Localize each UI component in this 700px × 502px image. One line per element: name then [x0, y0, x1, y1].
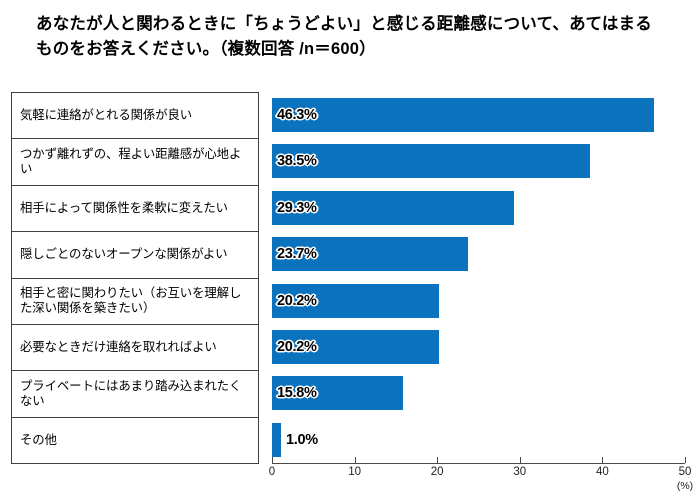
bar-value-label: 23.7% — [272, 237, 317, 271]
x-axis-tick — [685, 457, 686, 463]
x-axis-line — [272, 463, 685, 464]
bar-value-label: 38.5% — [272, 144, 317, 178]
category-cell: 隠しごとのないオープンな関係がよい — [12, 232, 258, 278]
x-axis-tick-label: 40 — [596, 466, 609, 478]
x-axis-tick-label: 0 — [269, 466, 275, 478]
category-cell: プライベートにはあまり踏み込まれたくない — [12, 371, 258, 417]
plot-area: 46.3%38.5%29.3%23.7%20.2%20.2%15.8%1.0% — [272, 92, 685, 463]
category-cell: 相手によって関係性を柔軟に変えたい — [12, 186, 258, 232]
category-label: プライベートにはあまり踏み込まれたくない — [20, 379, 252, 410]
x-axis-tick-label: 20 — [431, 466, 444, 478]
category-label: つかず離れずの、程よい距離感が心地よい — [20, 147, 252, 178]
bar-value-label: 15.8% — [272, 376, 317, 410]
x-axis-unit-label: (%) — [677, 480, 693, 492]
x-axis-tick — [272, 457, 273, 463]
bar — [272, 144, 590, 178]
category-label: 相手によって関係性を柔軟に変えたい — [20, 201, 228, 217]
x-axis-tick — [602, 457, 603, 463]
bar-row: 38.5% — [272, 138, 685, 184]
bar-value-label: 20.2% — [272, 330, 317, 364]
bar-row: 20.2% — [272, 324, 685, 370]
bar-value-label: 20.2% — [272, 284, 317, 318]
bar-row: 20.2% — [272, 278, 685, 324]
bar-value-label: 29.3% — [272, 191, 317, 225]
x-axis-tick-label: 30 — [513, 466, 526, 478]
x-axis-tick — [355, 457, 356, 463]
bar-row: 15.8% — [272, 370, 685, 416]
x-axis-tick-label: 10 — [348, 466, 361, 478]
bar-value-label: 1.0% — [281, 423, 318, 457]
category-label: 相手と密に関わりたい（お互いを理解した深い関係を築きたい） — [20, 286, 252, 317]
x-axis-tick — [520, 457, 521, 463]
bar-row: 29.3% — [272, 185, 685, 231]
category-cell: 気軽に連絡がとれる関係が良い — [12, 93, 258, 139]
x-axis-tick — [437, 457, 438, 463]
category-label: 気軽に連絡がとれる関係が良い — [20, 108, 192, 124]
category-label: 必要なときだけ連絡を取れればよい — [20, 340, 217, 356]
category-cell: 相手と密に関わりたい（お互いを理解した深い関係を築きたい） — [12, 279, 258, 325]
bar — [272, 423, 281, 457]
category-cell: 必要なときだけ連絡を取れればよい — [12, 325, 258, 371]
category-cell: つかず離れずの、程よい距離感が心地よい — [12, 139, 258, 185]
category-cell: その他 — [12, 418, 258, 464]
bar-row: 46.3% — [272, 92, 685, 138]
horizontal-bar-chart: 気軽に連絡がとれる関係が良いつかず離れずの、程よい距離感が心地よい相手によって関… — [0, 0, 700, 502]
category-label: その他 — [20, 433, 57, 449]
bar-row: 1.0% — [272, 417, 685, 463]
category-label-table: 気軽に連絡がとれる関係が良いつかず離れずの、程よい距離感が心地よい相手によって関… — [11, 92, 259, 464]
x-axis-tick-label: 50 — [679, 466, 692, 478]
bar-value-label: 46.3% — [272, 98, 317, 132]
category-label: 隠しごとのないオープンな関係がよい — [20, 247, 227, 263]
bar — [272, 98, 654, 132]
bar-row: 23.7% — [272, 231, 685, 277]
